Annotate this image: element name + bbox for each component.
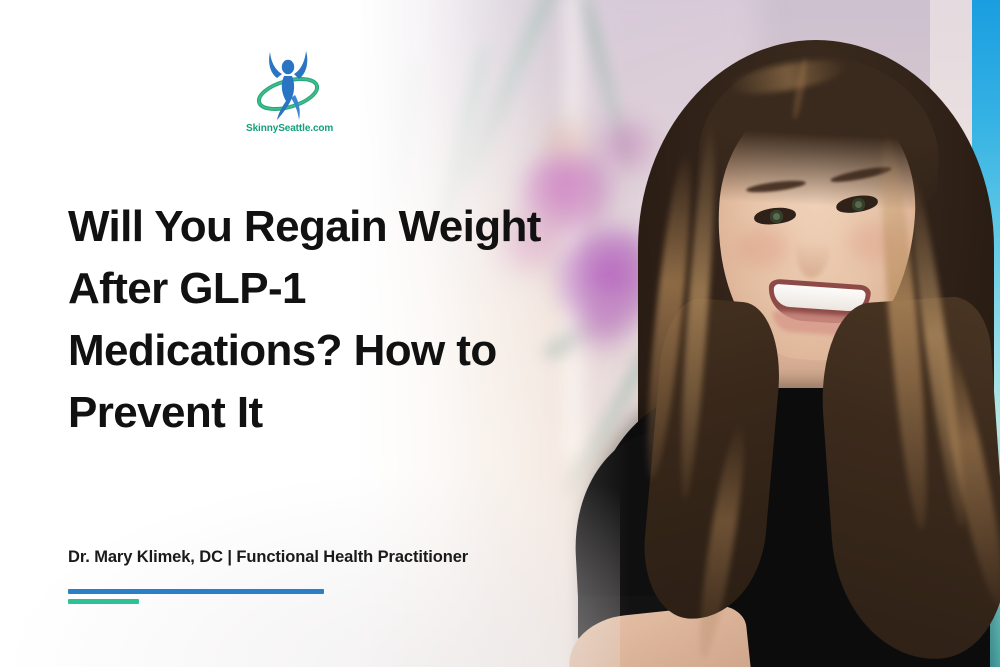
page-title: Will You Regain Weight After GLP-1 Medic… bbox=[68, 196, 568, 444]
skinny-seattle-figure-logo-icon bbox=[246, 44, 330, 122]
accent-rule-green bbox=[68, 599, 139, 604]
accent-rule-blue bbox=[68, 589, 324, 594]
content-layer: SkinnySeattle.com Will You Regain Weight… bbox=[0, 0, 1000, 667]
brand-logo-text: SkinnySeattle.com bbox=[246, 123, 330, 134]
brand-logo[interactable]: SkinnySeattle.com bbox=[246, 44, 330, 136]
author-byline: Dr. Mary Klimek, DC | Functional Health … bbox=[68, 548, 468, 567]
blog-header-banner: SkinnySeattle.com Will You Regain Weight… bbox=[0, 0, 1000, 667]
